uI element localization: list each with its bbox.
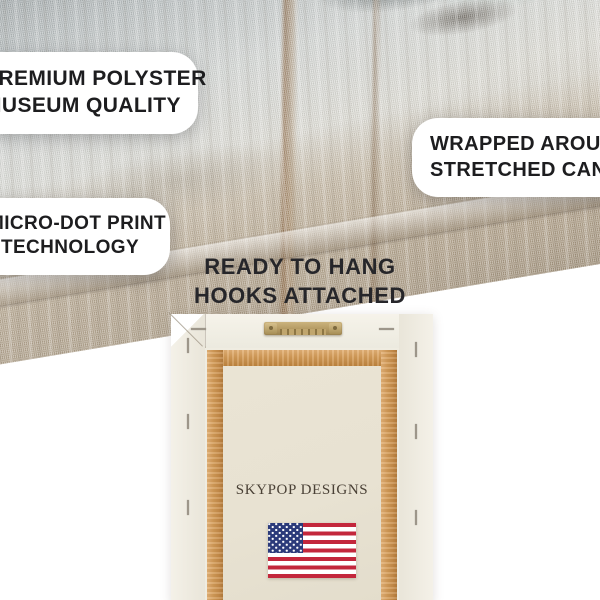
badge-line-1: MICRO-DOT PRINT — [0, 212, 152, 236]
stretcher-bar-right — [381, 350, 397, 600]
hanger-teeth — [280, 329, 326, 335]
staple — [415, 510, 417, 525]
brand-name: SKYPOP DESIGNS — [223, 482, 381, 499]
staple — [191, 328, 206, 330]
badge-line-2: MUSEUM QUALITY — [0, 93, 180, 120]
wrapped-canvas-badge: WRAPPED AROUND STRETCHED CANVAS — [412, 118, 600, 197]
sawtooth-hanger-icon — [264, 322, 342, 335]
staple — [415, 424, 417, 439]
badge-line-1: PREMIUM POLYSTER — [0, 66, 180, 93]
staple — [415, 342, 417, 357]
staple — [187, 414, 189, 429]
stretcher-bar-left — [207, 350, 223, 600]
usa-flag-icon — [268, 523, 356, 578]
ready-to-hang-heading: READY TO HANG HOOKS ATTACHED — [0, 252, 600, 310]
hanger-screw-plate-left — [265, 323, 277, 334]
staple — [187, 500, 189, 515]
heading-line-2: HOOKS ATTACHED — [0, 281, 600, 310]
heading-line-1: READY TO HANG — [0, 252, 600, 281]
canvas-wrap-left-edge — [171, 314, 205, 600]
staple — [379, 328, 394, 330]
badge-line-2: STRETCHED CANVAS — [430, 158, 600, 184]
canvas-back-product-shot: SKYPOP DESIGNS — [171, 314, 433, 600]
stretcher-bar-top — [207, 350, 397, 366]
staple — [187, 338, 189, 353]
product-infographic: PREMIUM POLYSTER MUSEUM QUALITY WRAPPED … — [0, 0, 600, 600]
premium-polyster-badge: PREMIUM POLYSTER MUSEUM QUALITY — [0, 52, 198, 134]
hanger-screw-plate-right — [329, 323, 341, 334]
flag-canton — [268, 523, 303, 553]
badge-line-1: WRAPPED AROUND — [430, 132, 600, 158]
